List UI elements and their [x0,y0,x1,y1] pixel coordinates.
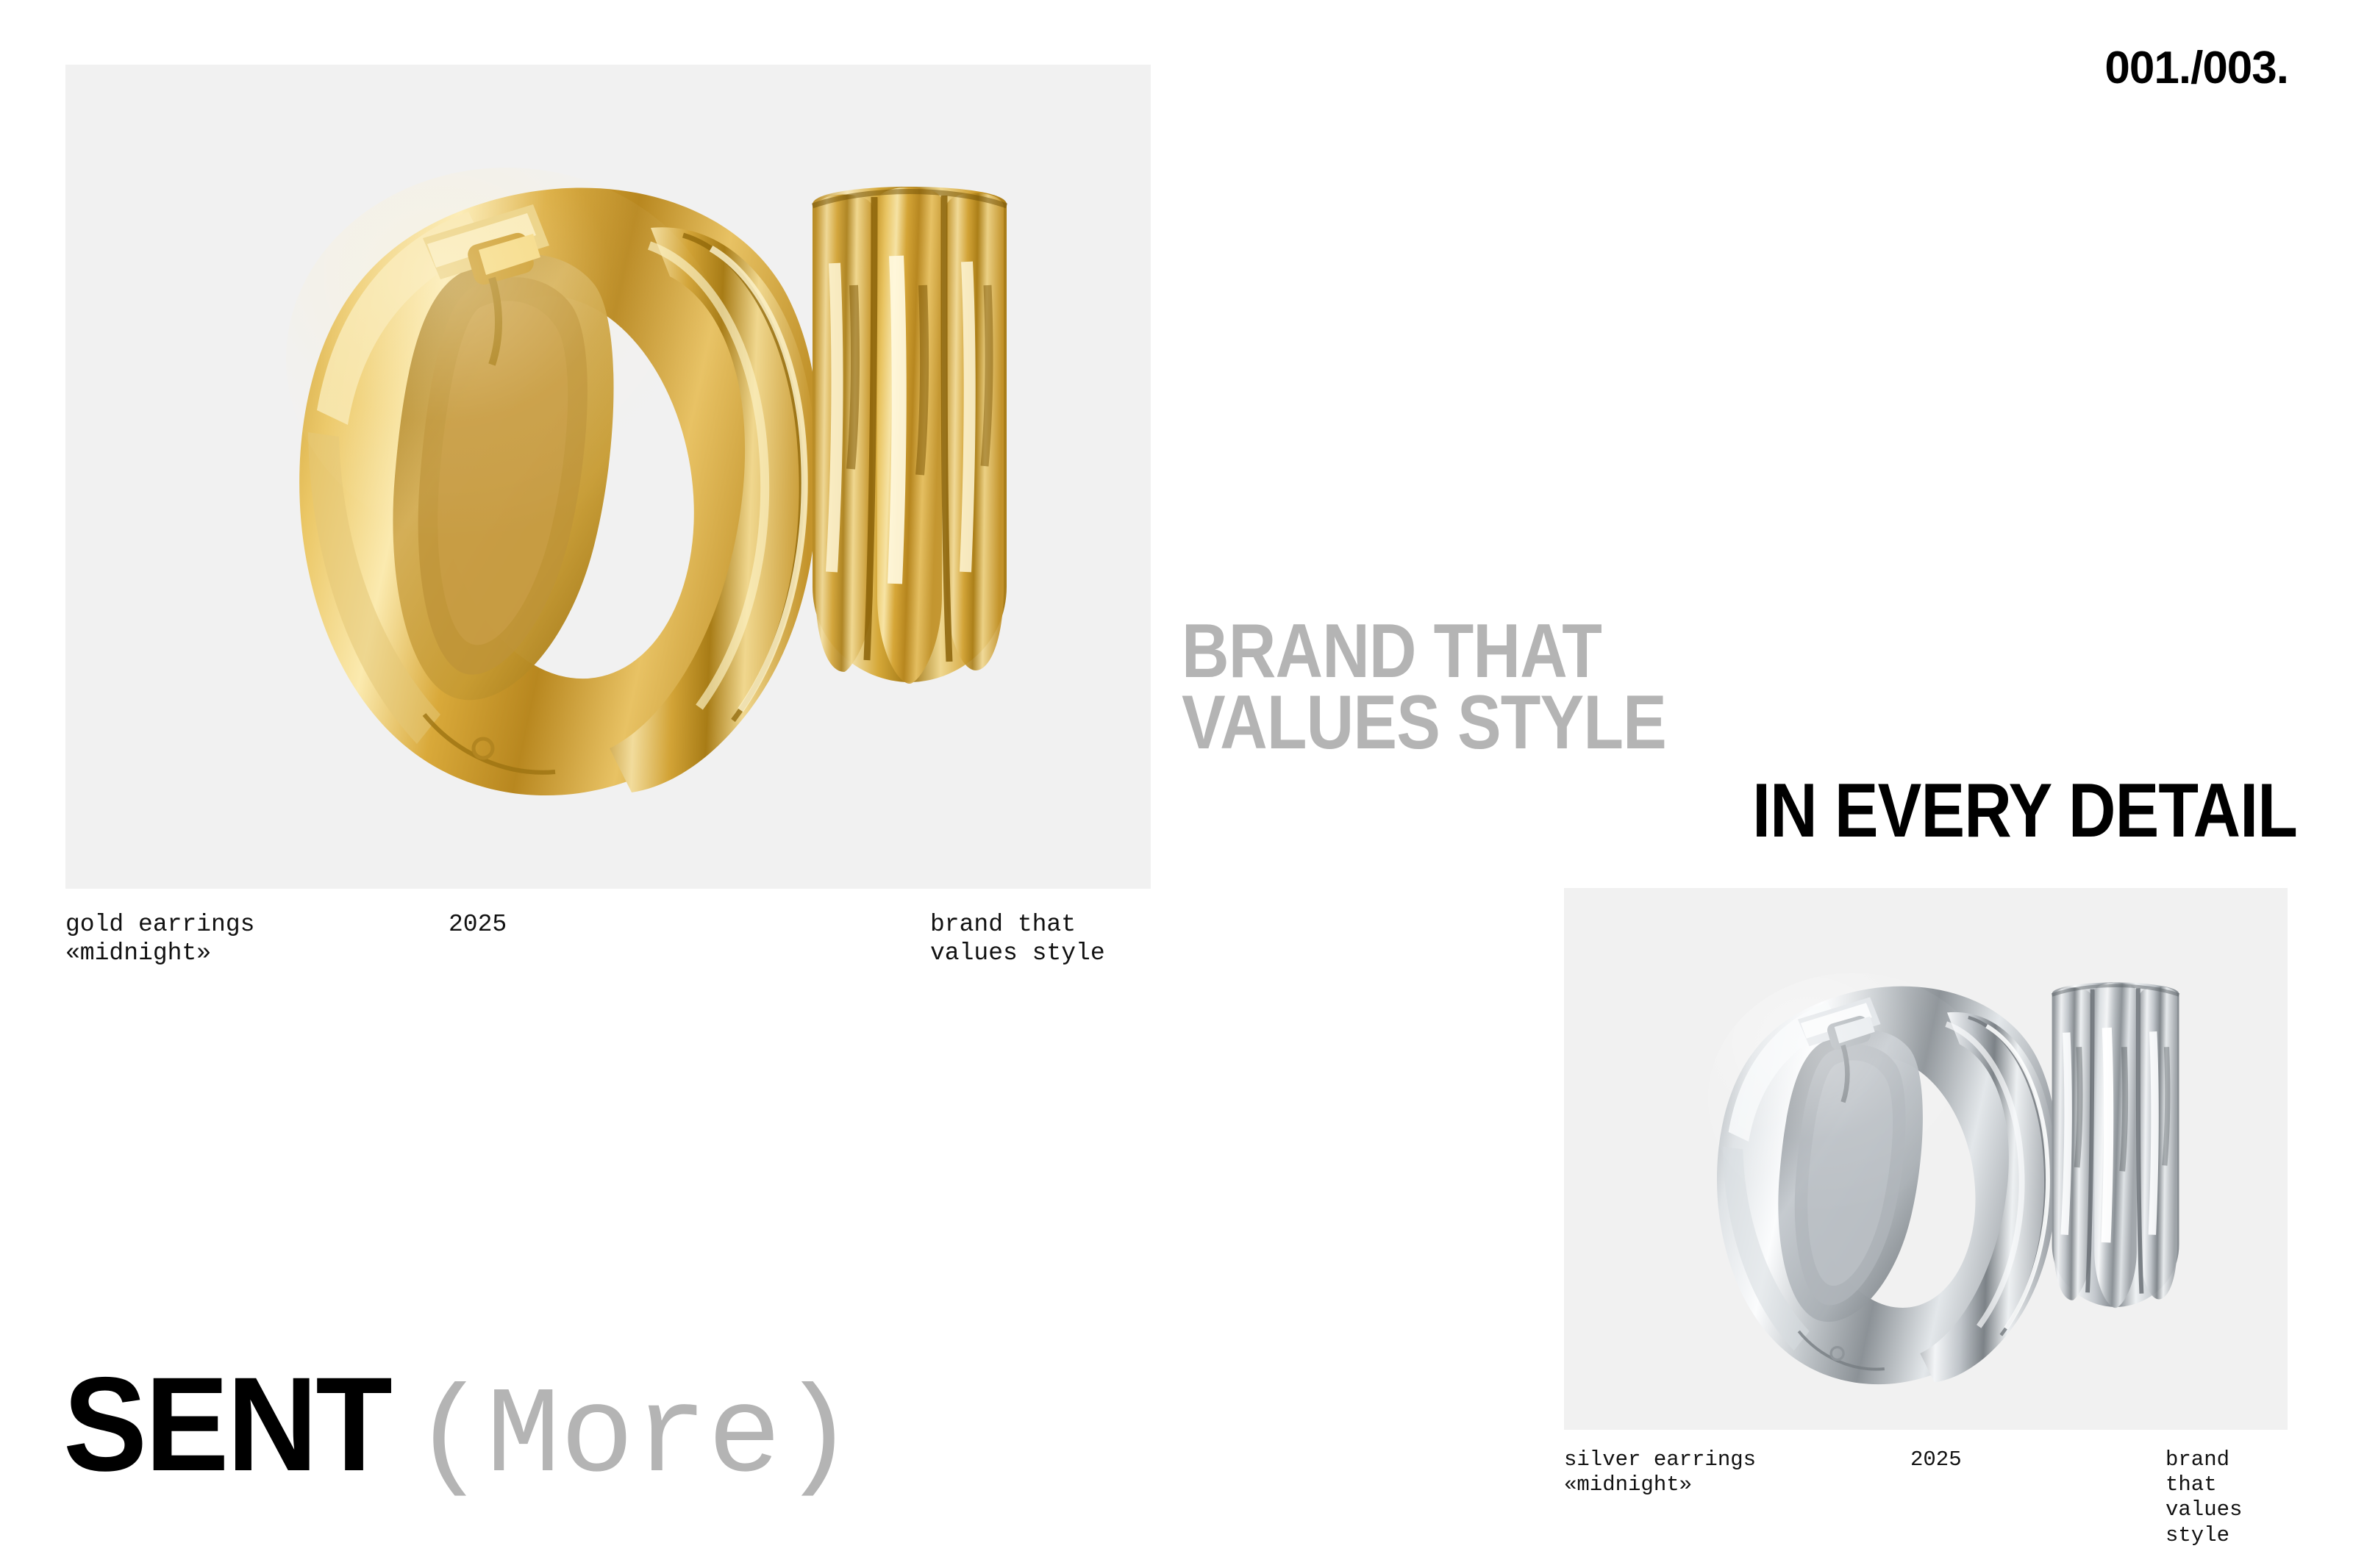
product-name-gold: gold earrings «midnight» [65,911,254,968]
product-photo-silver [1564,888,2288,1430]
gold-earrings-illustration [65,65,1151,889]
product-brand-gold: brand that values style [930,911,1105,968]
page-number: 001./003. [2104,46,2288,91]
product-year-gold: 2025 [449,911,507,939]
headline-line-3: IN EVERY DETAIL [1338,776,2297,847]
brand-wordmark: SENT (More) [63,1357,855,1500]
product-name-silver: silver earrings «midnight» [1564,1447,1756,1497]
headline-line-1: BRAND THAT [1182,616,2143,687]
headline-block: BRAND THAT VALUES STYLE IN EVERY DETAIL [1182,616,2299,847]
product-caption-silver: silver earrings «midnight» 2025 brand th… [1564,1447,2288,1499]
product-year-silver: 2025 [1910,1447,1962,1472]
wordmark-primary: SENT [63,1357,390,1491]
product-photo-gold [65,65,1151,889]
silver-earrings-illustration [1564,888,2288,1430]
headline-line-2: VALUES STYLE [1182,687,2143,759]
wordmark-secondary: (More) [413,1377,854,1500]
product-card-gold: gold earrings «midnight» 2025 brand that… [65,65,1151,889]
product-brand-silver: brand that values style [2165,1447,2288,1548]
product-caption-gold: gold earrings «midnight» 2025 brand that… [65,911,1151,970]
product-card-silver: silver earrings «midnight» 2025 brand th… [1564,888,2288,1430]
